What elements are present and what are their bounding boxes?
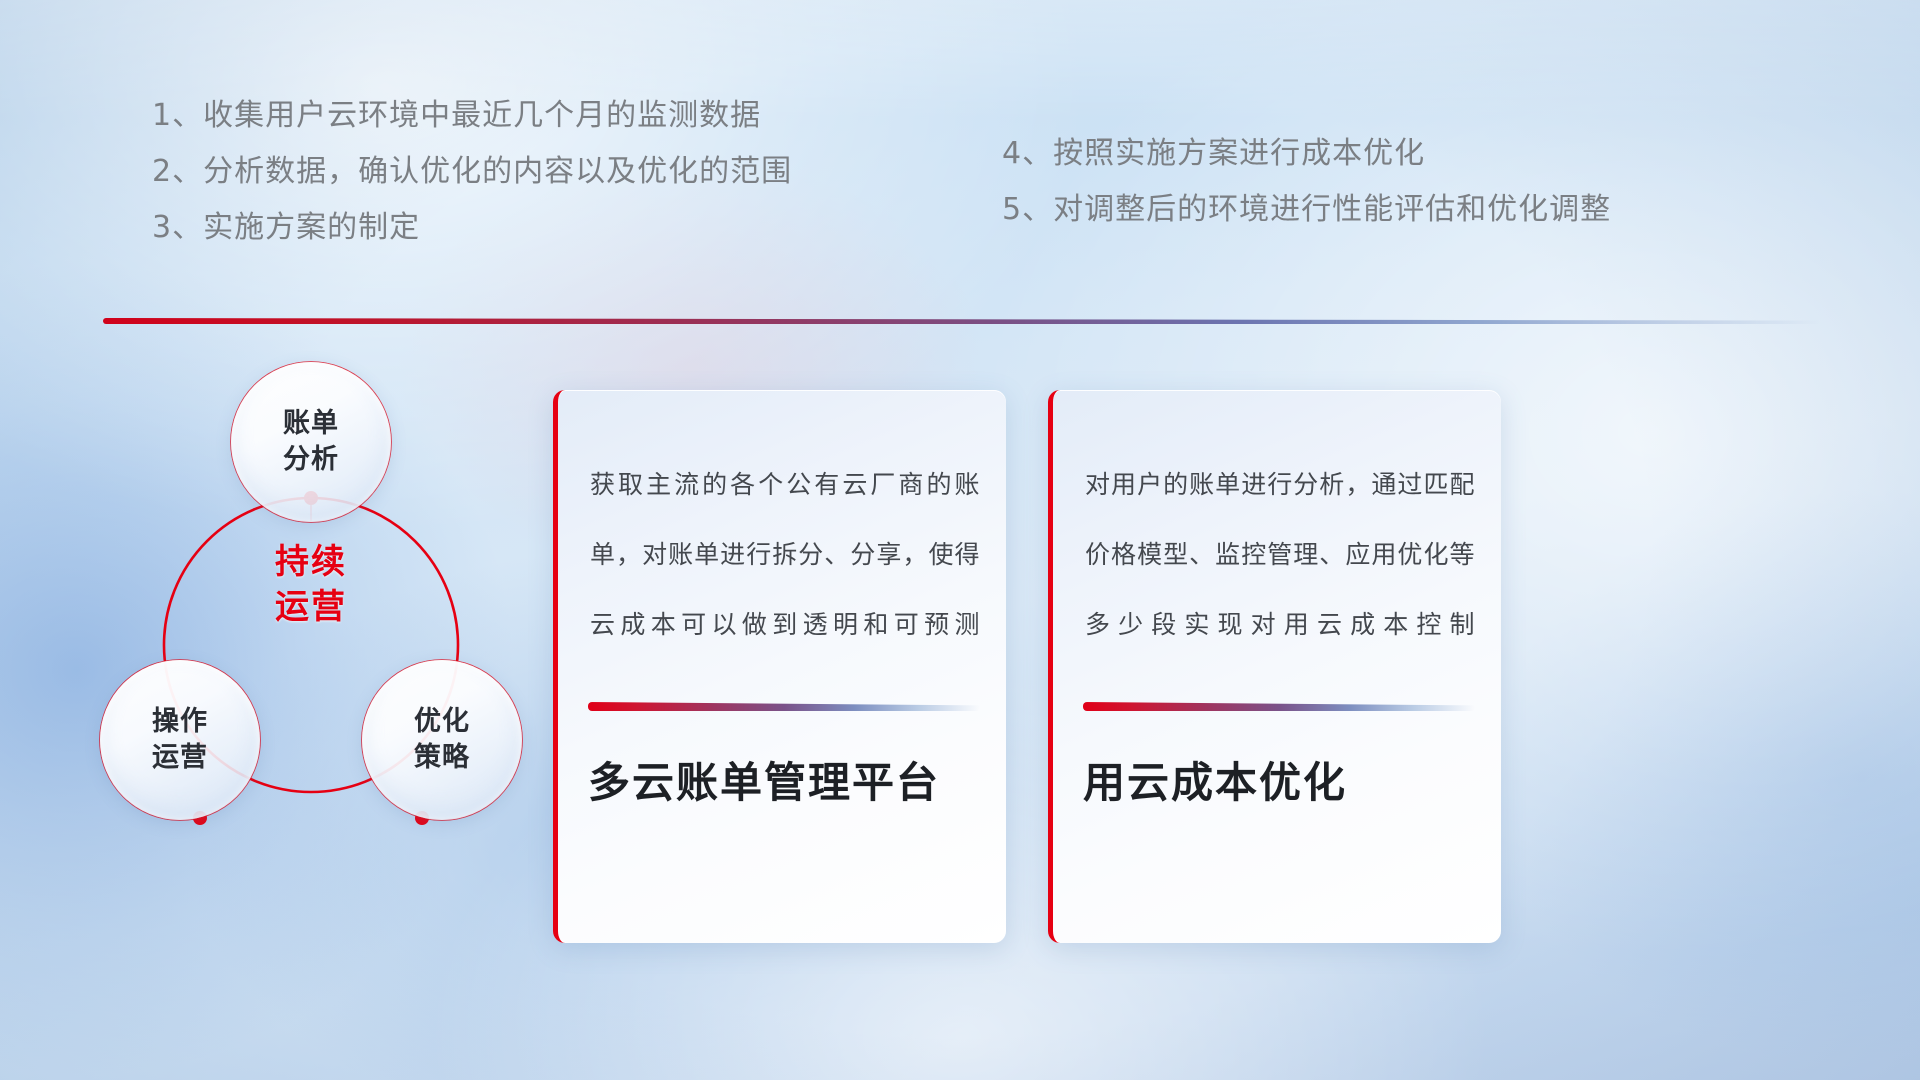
step-item-5: 5、对调整后的环境进行性能评估和优化调整 [1002, 182, 1611, 238]
venn-bubble-left-line2: 运营 [152, 740, 208, 776]
steps-section: 1、收集用户云环境中最近几个月的监测数据 2、分析数据，确认优化的内容以及优化的… [0, 88, 1920, 248]
feature-card-cost-optimization[interactable]: 对用户的账单进行分析，通过匹配价格模型、监控管理、应用优化等多少段实现对用云成本… [1048, 390, 1501, 943]
venn-diagram: 账单 分析 操作 运营 优化 策略 持续 运营 [100, 360, 620, 920]
venn-bubble-left-line1: 操作 [152, 704, 208, 740]
venn-bubble-top-line1: 账单 [283, 406, 339, 442]
feature-card-multicloud-billing[interactable]: 获取主流的各个公有云厂商的账单，对账单进行拆分、分享，使得云成本可以做到透明和可… [553, 390, 1006, 943]
venn-center-line1: 持续 [248, 540, 374, 585]
venn-bubble-operations[interactable]: 操作 运营 [100, 660, 260, 820]
venn-bubble-billing-analysis[interactable]: 账单 分析 [231, 362, 391, 522]
venn-center-line2: 运营 [248, 585, 374, 630]
step-item-4: 4、按照实施方案进行成本优化 [1002, 126, 1611, 182]
card-2-title: 用云成本优化 [1083, 758, 1483, 808]
card-1-body: 获取主流的各个公有云厂商的账单，对账单进行拆分、分享，使得云成本可以做到透明和可… [590, 450, 980, 660]
card-2-body: 对用户的账单进行分析，通过匹配价格模型、监控管理、应用优化等多少段实现对用云成本… [1085, 450, 1475, 660]
steps-right-column: 4、按照实施方案进行成本优化 5、对调整后的环境进行性能评估和优化调整 [1002, 126, 1611, 238]
venn-bubble-right-line1: 优化 [414, 704, 470, 740]
venn-center-label: 持续 运营 [248, 540, 374, 630]
venn-bubble-right-line2: 策略 [414, 740, 470, 776]
venn-bubble-top-line2: 分析 [283, 442, 339, 478]
card-1-accent-rule [588, 702, 980, 711]
card-1-title: 多云账单管理平台 [588, 758, 988, 808]
steps-left-column: 1、收集用户云环境中最近几个月的监测数据 2、分析数据，确认优化的内容以及优化的… [152, 88, 792, 256]
card-2-description: 对用户的账单进行分析，通过匹配价格模型、监控管理、应用优化等多少段实现对用云成本… [1085, 450, 1475, 660]
card-1-description: 获取主流的各个公有云厂商的账单，对账单进行拆分、分享，使得云成本可以做到透明和可… [590, 450, 980, 660]
card-2-accent-rule [1083, 702, 1475, 711]
step-item-3: 3、实施方案的制定 [152, 200, 792, 256]
step-item-1: 1、收集用户云环境中最近几个月的监测数据 [152, 88, 792, 144]
step-item-2: 2、分析数据，确认优化的内容以及优化的范围 [152, 144, 792, 200]
venn-bubble-optimization-strategy[interactable]: 优化 策略 [362, 660, 522, 820]
